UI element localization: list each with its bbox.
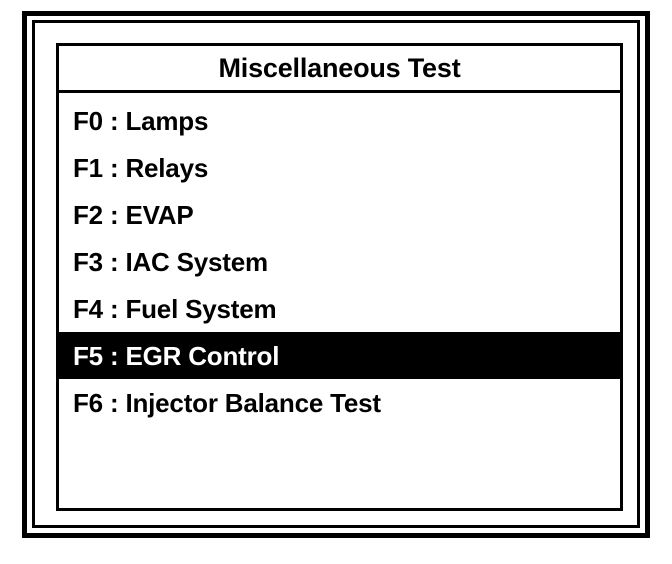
device-bezel-inner: Miscellaneous Test F0 : LampsF1 : Relays… (32, 20, 640, 528)
page-title: Miscellaneous Test (219, 55, 461, 82)
menu-item-f1[interactable]: F1 : Relays (59, 144, 620, 191)
menu-item-f5[interactable]: F5 : EGR Control (59, 332, 620, 379)
menu-item-f3[interactable]: F3 : IAC System (59, 238, 620, 285)
menu-item-f4[interactable]: F4 : Fuel System (59, 285, 620, 332)
menu-item-label: F1 : Relays (73, 155, 208, 181)
menu-panel: Miscellaneous Test F0 : LampsF1 : Relays… (56, 43, 623, 511)
menu-list[interactable]: F0 : LampsF1 : RelaysF2 : EVAPF3 : IAC S… (59, 93, 620, 508)
menu-item-label: F4 : Fuel System (73, 296, 276, 322)
menu-item-f2[interactable]: F2 : EVAP (59, 191, 620, 238)
title-bar: Miscellaneous Test (59, 46, 620, 93)
menu-item-label: F3 : IAC System (73, 249, 268, 275)
menu-item-label: F2 : EVAP (73, 202, 194, 228)
menu-item-label: F0 : Lamps (73, 108, 208, 134)
menu-item-f0[interactable]: F0 : Lamps (59, 97, 620, 144)
menu-item-label: F5 : EGR Control (73, 343, 279, 369)
device-bezel-outer: Miscellaneous Test F0 : LampsF1 : Relays… (22, 11, 650, 538)
menu-item-label: F6 : Injector Balance Test (73, 390, 381, 416)
menu-item-f6[interactable]: F6 : Injector Balance Test (59, 379, 620, 426)
